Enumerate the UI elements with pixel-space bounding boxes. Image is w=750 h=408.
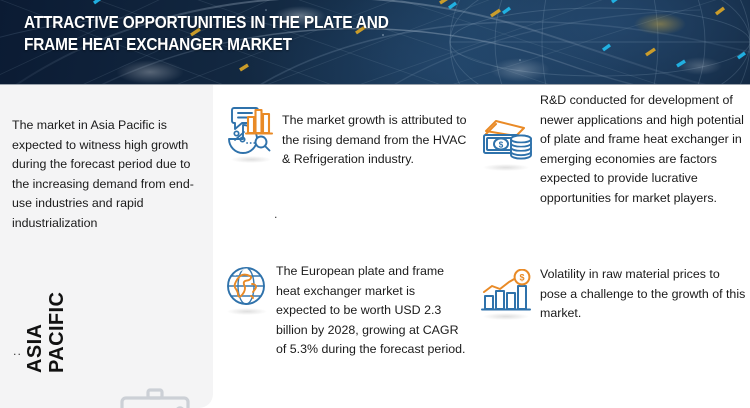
svg-text:$: $ — [499, 140, 504, 149]
left-panel-body-text: The market in Asia Pacific is expected t… — [12, 116, 202, 233]
content-area: The market in Asia Pacific is expected t… — [0, 85, 750, 408]
middle-column-stray-marker: . — [274, 207, 277, 221]
card-europe-market: The European plate and frame heat exchan… — [222, 262, 474, 360]
bar-chart-dollar-icon: $ — [478, 269, 534, 319]
icon-shadow — [483, 164, 529, 171]
region-label-asia-pacific: ASIA PACIFIC — [24, 267, 54, 373]
left-panel-trailing-marker: .. — [13, 344, 22, 358]
chart-percent-search-icon — [222, 103, 280, 161]
svg-text:$: $ — [519, 273, 524, 283]
icon-shadow — [483, 313, 529, 320]
presentation-chart-magnifier-icon — [108, 383, 204, 408]
card-volatility-text: Volatility in raw material prices to pos… — [540, 265, 748, 324]
cash-coins-icon: $ — [478, 113, 534, 169]
globe-icon — [222, 264, 272, 314]
header-banner: ATTRACTIVE OPPORTUNITIES IN THE PLATE AN… — [0, 0, 750, 85]
card-rnd-text: R&D conducted for development of newer a… — [540, 91, 748, 208]
infographic-slide: ATTRACTIVE OPPORTUNITIES IN THE PLATE AN… — [0, 0, 750, 408]
icon-shadow — [231, 156, 271, 163]
page-title: ATTRACTIVE OPPORTUNITIES IN THE PLATE AN… — [24, 11, 464, 55]
icon-shadow — [227, 308, 267, 315]
middle-column: The market growth is attributed to the r… — [213, 85, 468, 408]
left-region-panel: The market in Asia Pacific is expected t… — [0, 85, 213, 408]
card-raw-material-volatility: $ Volatility in raw material prices to p… — [478, 265, 750, 324]
right-column: $ R&D conducted for development of newer… — [468, 85, 750, 408]
card-hvac-demand: The market growth is attributed to the r… — [222, 99, 470, 170]
card-hvac-text: The market growth is attributed to the r… — [282, 111, 468, 170]
card-rnd-opportunities: $ R&D conducted for development of newer… — [478, 91, 750, 208]
card-europe-text: The European plate and frame heat exchan… — [276, 262, 466, 360]
